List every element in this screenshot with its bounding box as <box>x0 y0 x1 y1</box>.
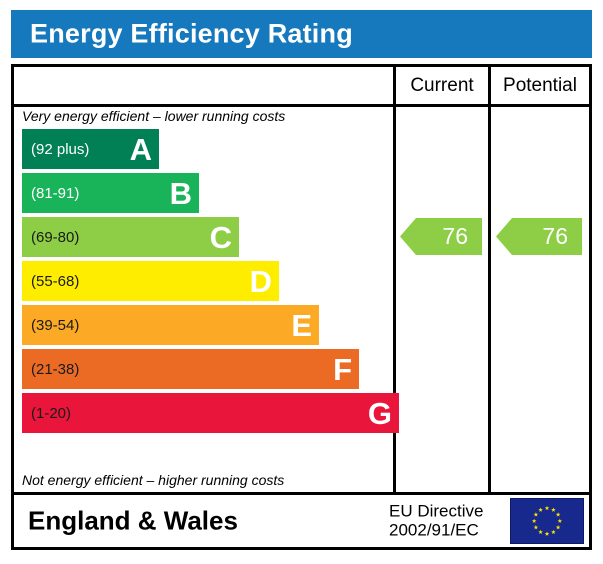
current-rating-arrow: 76 <box>400 218 482 255</box>
band-range-f: (21-38) <box>31 362 79 377</box>
column-header-current: Current <box>396 67 488 104</box>
footer-eu-directive: EU Directive 2002/91/EC <box>389 502 483 541</box>
eu-flag-icon <box>510 498 584 544</box>
band-range-e: (39-54) <box>31 318 79 333</box>
band-range-a: (92 plus) <box>31 142 89 157</box>
band-bar-e: (39-54) E <box>22 305 319 345</box>
band-range-b: (81-91) <box>31 186 79 201</box>
band-letter-c: C <box>210 222 232 253</box>
epc-rating-table: Current Potential Very energy efficient … <box>11 64 592 550</box>
band-bar-b: (81-91) B <box>22 173 199 213</box>
footer-row: England & Wales EU Directive 2002/91/EC <box>14 495 589 547</box>
band-letter-f: F <box>333 354 352 385</box>
band-letter-a: A <box>130 134 152 165</box>
band-bar-f: (21-38) F <box>22 349 359 389</box>
rating-bands-chart: Very energy efficient – lower running co… <box>14 107 390 492</box>
band-range-d: (55-68) <box>31 274 79 289</box>
band-letter-g: G <box>368 398 392 429</box>
band-bar-g: (1-20) G <box>22 393 399 433</box>
band-bar-c: (69-80) C <box>22 217 239 257</box>
page-title: Energy Efficiency Rating <box>30 19 353 50</box>
caption-very-efficient: Very energy efficient – lower running co… <box>22 108 285 124</box>
footer-region-label: England & Wales <box>28 506 238 537</box>
band-letter-d: D <box>250 266 272 297</box>
band-letter-e: E <box>291 310 312 341</box>
band-range-g: (1-20) <box>31 406 71 421</box>
column-header-potential: Potential <box>491 67 589 104</box>
caption-not-efficient: Not energy efficient – higher running co… <box>22 472 284 488</box>
column-divider-potential <box>488 67 491 492</box>
potential-rating-arrow: 76 <box>496 218 582 255</box>
band-bar-a: (92 plus) A <box>22 129 159 169</box>
table-header-row: Current Potential <box>14 67 589 104</box>
epc-title-banner: Energy Efficiency Rating <box>11 10 592 58</box>
directive-line-1: EU Directive <box>389 502 483 521</box>
directive-line-2: 2002/91/EC <box>389 521 483 540</box>
band-bar-d: (55-68) D <box>22 261 279 301</box>
band-range-c: (69-80) <box>31 230 79 245</box>
band-letter-b: B <box>170 178 192 209</box>
